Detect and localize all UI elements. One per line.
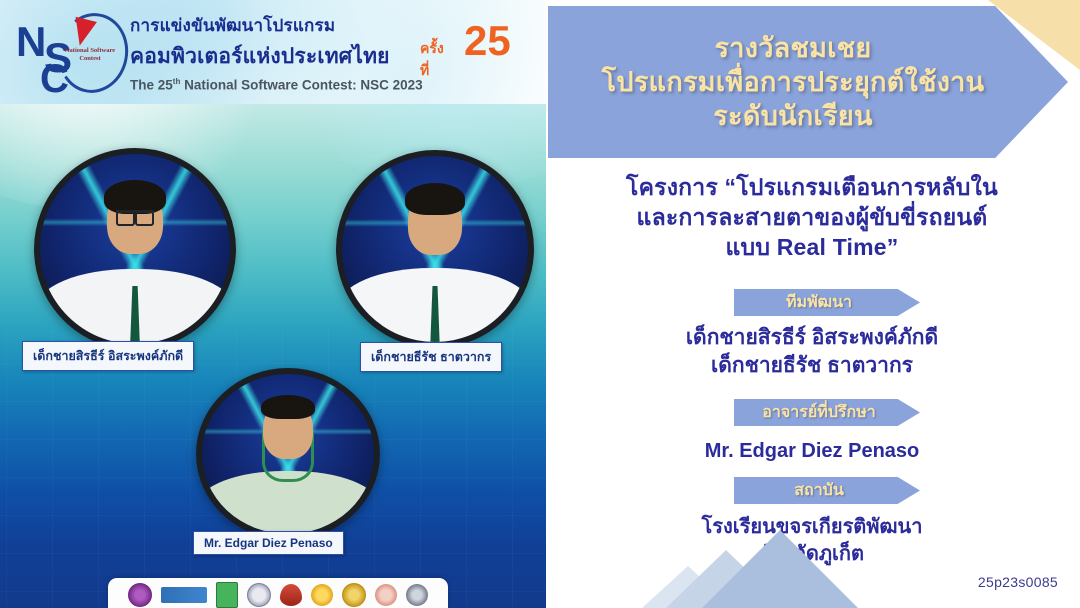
- team-member-1: เด็กชายสิรธีร์ อิสระพงค์ภักดี: [562, 324, 1062, 352]
- header-text-block: การแข่งขันพัฒนาโปรแกรม คอมพิวเตอร์แห่งปร…: [130, 12, 430, 93]
- project-code: 25p23s0085: [978, 574, 1058, 590]
- team-names: เด็กชายสิรธีร์ อิสระพงค์ภักดี เด็กชายธีร…: [562, 324, 1062, 380]
- sponsor-logo-3-icon: [216, 582, 238, 608]
- poster-panel: N S C National Software Contest การแข่งข…: [0, 0, 546, 608]
- sponsor-logo-8-icon: [375, 584, 397, 606]
- project-title: โครงการ “โปรแกรมเตือนการหลับใน และการละส…: [562, 172, 1062, 262]
- edition-label: ครั้งที่: [420, 38, 444, 82]
- sponsor-logo-1-icon: [128, 583, 152, 607]
- header-line-1: การแข่งขันพัฒนาโปรแกรม: [130, 12, 430, 39]
- award-line-3: ระดับนักเรียน: [713, 99, 903, 133]
- nsc-logo-letter-c: C: [40, 59, 69, 99]
- project-title-line-3: แบบ Real Time”: [562, 232, 1062, 262]
- badge-institution-label: สถาบัน: [794, 478, 860, 503]
- badge-institution: สถาบัน: [734, 477, 920, 504]
- photo-hair: [104, 180, 166, 214]
- badge-advisor-label: อาจารย์ที่ปรึกษา: [762, 400, 891, 425]
- edition-number: 25: [464, 20, 511, 62]
- presentation-slide: N S C National Software Contest การแข่งข…: [0, 0, 1080, 608]
- photo-hair: [261, 395, 315, 419]
- header-line-3: The 25th National Software Contest: NSC …: [130, 77, 430, 93]
- photo-person: [342, 227, 528, 342]
- plate-advisor: Mr. Edgar Diez Penaso: [193, 531, 344, 555]
- award-line-1: รางวัลชมเชย: [714, 31, 901, 65]
- award-line-2: โปรแกรมเพื่อการประยุกต์ใช้งาน: [602, 65, 1015, 99]
- photo-advisor: [196, 368, 380, 540]
- nsc-logo-subtitle: National Software Contest: [58, 47, 122, 62]
- mountain-decoration-main: [702, 530, 858, 608]
- badge-team-label: ทีมพัฒนา: [786, 290, 868, 315]
- award-banner: รางวัลชมเชย โปรแกรมเพื่อการประยุกต์ใช้งา…: [548, 6, 1068, 158]
- badge-team: ทีมพัฒนา: [734, 289, 920, 316]
- team-member-2: เด็กชายธีรัช ธาตวากร: [562, 352, 1062, 380]
- sponsor-logo-4-icon: [247, 583, 271, 607]
- advisor-name: Mr. Edgar Diez Penaso: [562, 437, 1062, 465]
- plate-student-2: เด็กชายธีรัช ธาตวากร: [360, 342, 502, 372]
- photo-glasses-icon: [116, 210, 154, 222]
- sponsor-logo-5-icon: [280, 584, 302, 606]
- badge-advisor: อาจารย์ที่ปรึกษา: [734, 399, 920, 426]
- project-title-line-2: และการละสายตาของผู้ขับขี่รถยนต์: [562, 202, 1062, 232]
- photo-person: [40, 226, 230, 344]
- photo-person: [202, 435, 374, 534]
- plate-student-1: เด็กชายสิรธีร์ อิสระพงค์ภักดี: [22, 341, 194, 371]
- sponsor-logo-2-icon: [161, 587, 207, 603]
- sponsor-logo-6-icon: [311, 584, 333, 606]
- poster-header: N S C National Software Contest การแข่งข…: [0, 0, 546, 104]
- photo-hair: [405, 183, 465, 215]
- photo-student-1: [34, 148, 236, 350]
- header-line-3-suffix: National Software Contest: NSC 2023: [180, 78, 422, 93]
- sponsor-logo-9-icon: [406, 584, 428, 606]
- sponsor-logo-7-icon: [342, 583, 366, 607]
- header-line-3-prefix: The 25: [130, 78, 173, 93]
- info-panel: รางวัลชมเชย โปรแกรมเพื่อการประยุกต์ใช้งา…: [546, 0, 1080, 608]
- photo-student-2: [336, 150, 534, 348]
- project-title-line-1: โครงการ “โปรแกรมเตือนการหลับใน: [562, 172, 1062, 202]
- nsc-logo: N S C National Software Contest: [14, 7, 126, 99]
- header-line-2: คอมพิวเตอร์แห่งประเทศไทย: [130, 40, 430, 73]
- sponsor-logo-bar: [108, 578, 448, 608]
